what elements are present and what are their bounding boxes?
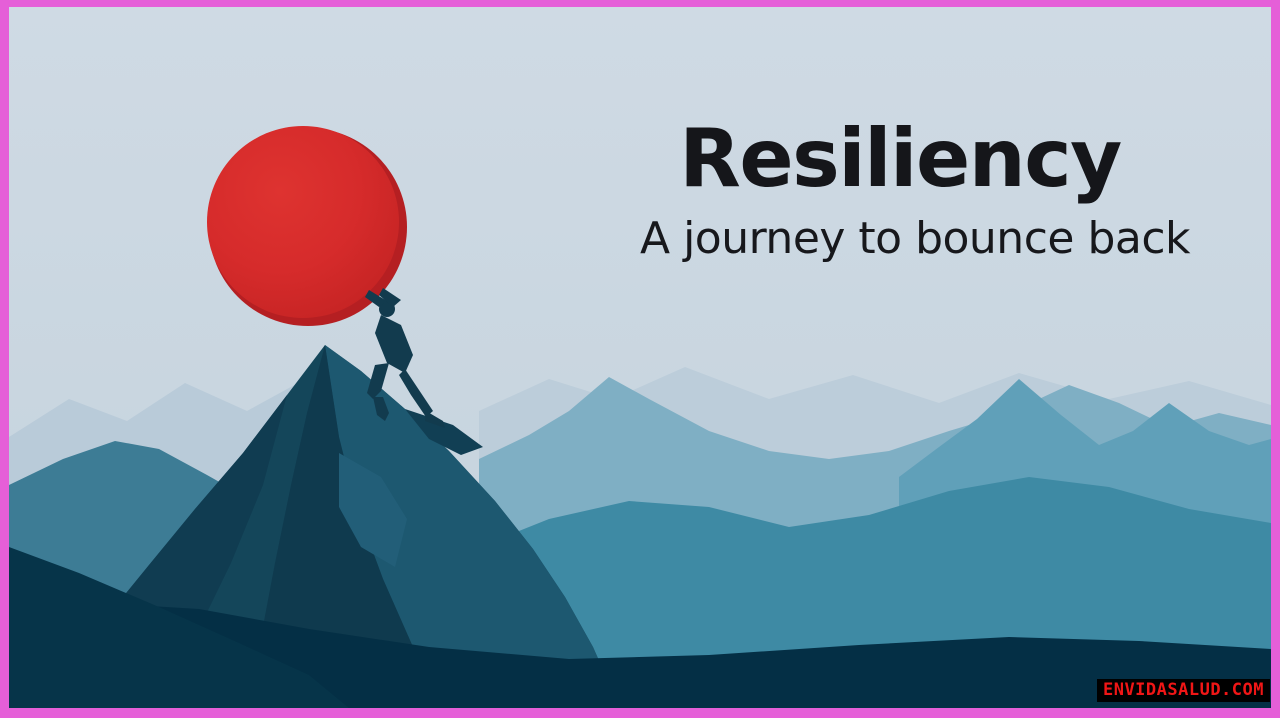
frame-border-left bbox=[0, 0, 9, 718]
illustration-stage bbox=[9, 7, 1271, 708]
boulder-sphere bbox=[207, 126, 399, 318]
poster-canvas: Resiliency A journey to bounce back ENVI… bbox=[0, 0, 1280, 718]
frame-border-right bbox=[1271, 0, 1280, 718]
watermark-badge: ENVIDASALUD.COM bbox=[1097, 679, 1270, 702]
watermark-text: ENVIDASALUD.COM bbox=[1103, 682, 1264, 699]
frame-border-top bbox=[0, 0, 1280, 7]
frame-border-bottom bbox=[0, 708, 1280, 718]
